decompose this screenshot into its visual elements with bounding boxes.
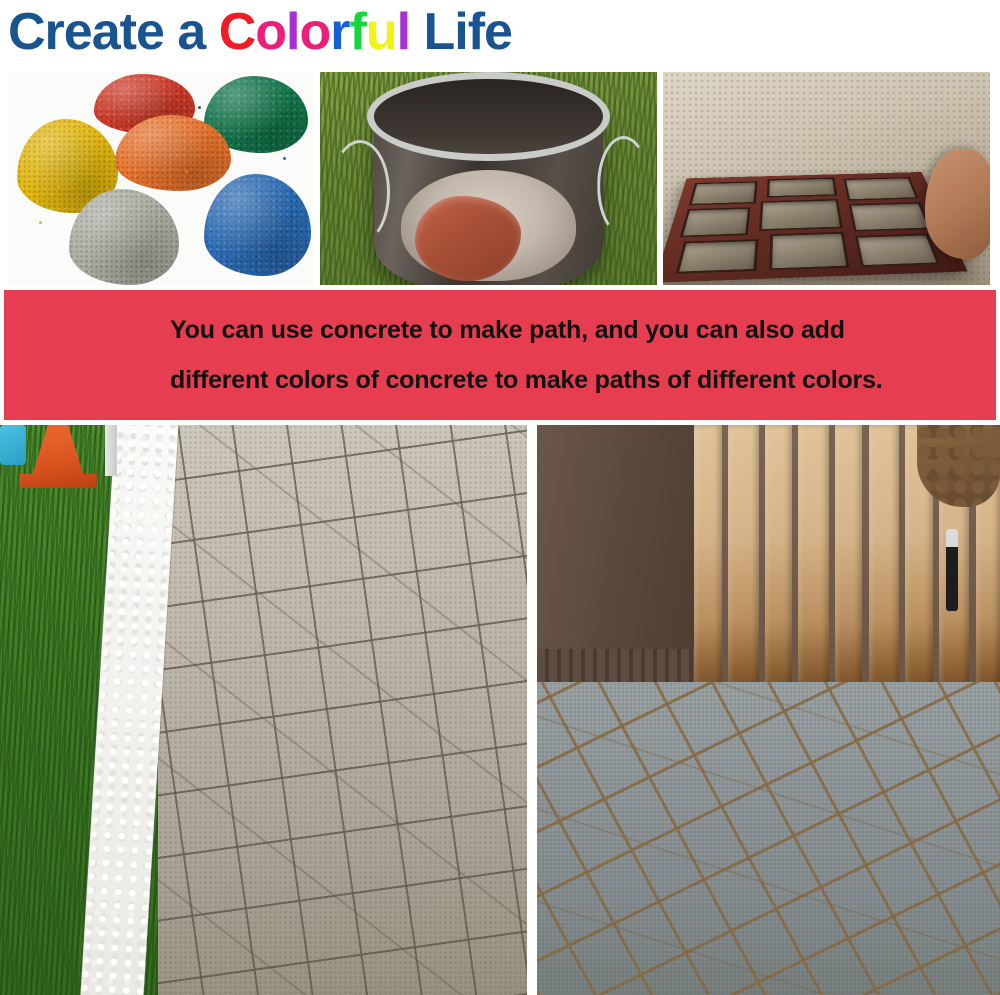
bucket-handle-right bbox=[597, 136, 650, 236]
bottom-photo-row bbox=[0, 425, 1000, 995]
white-pole bbox=[105, 425, 117, 476]
title-segment-9: Life bbox=[410, 3, 512, 61]
metal-bucket bbox=[374, 76, 603, 285]
bucket-rim bbox=[367, 72, 610, 161]
banner-line-1: You can use concrete to make path, and y… bbox=[4, 305, 996, 355]
promo-banner: You can use concrete to make path, and y… bbox=[4, 290, 996, 420]
concrete-path-surface bbox=[148, 425, 527, 995]
page-title: Create a Colorful Life bbox=[8, 2, 988, 64]
photo-paving-mold-lifted-by-hand bbox=[663, 72, 990, 285]
powder-speck bbox=[198, 106, 201, 109]
title-segment-4: o bbox=[299, 3, 330, 61]
patio-stone-surface bbox=[537, 682, 1000, 995]
photo-garden-path-result bbox=[0, 425, 527, 995]
photo-colored-pigment-powder-piles bbox=[8, 72, 314, 285]
powder-speck bbox=[146, 268, 149, 271]
pigment-pile-blue bbox=[204, 174, 311, 276]
photo-patio-result bbox=[537, 425, 1000, 995]
product-infographic: Create a Colorful Life bbox=[0, 0, 1000, 995]
powder-speck bbox=[57, 185, 60, 188]
garden-lamp bbox=[946, 529, 958, 611]
title-segment-8: l bbox=[397, 3, 410, 61]
title-segment-7: u bbox=[366, 3, 397, 61]
wall-trim bbox=[537, 649, 704, 682]
top-photo-row bbox=[0, 72, 1000, 285]
pigment-pile-gray bbox=[69, 189, 179, 285]
blue-toy bbox=[0, 425, 26, 465]
bucket-handle-left bbox=[330, 140, 390, 244]
title-segment-3: l bbox=[286, 3, 299, 61]
title-segment-2: o bbox=[255, 3, 286, 61]
paving-mold bbox=[663, 171, 968, 282]
title-segment-6: f bbox=[349, 3, 365, 61]
title-segment-0: Create a bbox=[8, 3, 219, 61]
banner-line-2: different colors of concrete to make pat… bbox=[4, 355, 996, 405]
powder-speck bbox=[39, 221, 42, 224]
title-segment-1: C bbox=[219, 3, 256, 61]
back-wall bbox=[537, 425, 1000, 699]
photo-pigment-mixed-in-bucket bbox=[320, 72, 657, 285]
title-segment-5: r bbox=[330, 3, 349, 61]
